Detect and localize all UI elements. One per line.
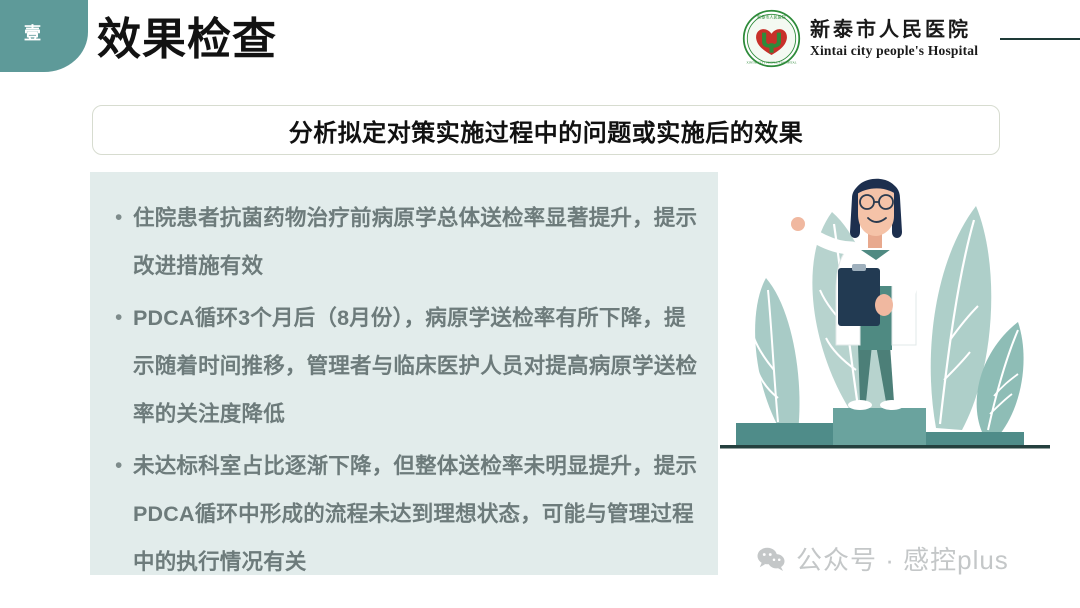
page-title: 效果检查 [97,12,277,67]
bullet-marker-icon: • [115,194,133,242]
list-item-text: 住院患者抗菌药物治疗前病原学总体送检率显著提升，提示改进措施有效 [133,194,702,290]
watermark: 公众号 · 感控plus [756,540,1009,577]
list-item: • 未达标科室占比逐渐下降，但整体送检率未明显提升，提示PDCA循环中形成的流程… [115,442,702,586]
slide-root: 壹 效果检查 新泰市人民医院 XINTAI CITY PEOPLE'S HOSP… [0,0,1080,608]
section-number-badge: 壹 [0,0,66,62]
bullet-marker-icon: • [115,442,133,490]
wechat-icon [756,546,786,572]
header-divider-rule [1000,38,1080,40]
hospital-logo-block: 新泰市人民医院 XINTAI CITY PEOPLE'S HOSPITAL 新泰… [742,9,978,68]
hospital-name-en: Xintai city people's Hospital [810,44,978,59]
svg-text:XINTAI CITY PEOPLE'S HOSPITAL: XINTAI CITY PEOPLE'S HOSPITAL [746,60,796,64]
doctor-illustration [700,140,1080,470]
hospital-emblem-icon: 新泰市人民医院 XINTAI CITY PEOPLE'S HOSPITAL [742,9,801,68]
hospital-name-block: 新泰市人民医院 Xintai city people's Hospital [810,19,978,59]
list-item: • PDCA循环3个月后（8月份），病原学送检率有所下降，提示随着时间推移，管理… [115,294,702,438]
watermark-text: 公众号 · 感控plus [796,540,1009,577]
content-panel: • 住院患者抗菌药物治疗前病原学总体送检率显著提升，提示改进措施有效 • PDC… [90,172,718,575]
bullet-marker-icon: • [115,294,133,342]
hospital-name-cn: 新泰市人民医院 [810,19,978,41]
list-item-text: 未达标科室占比逐渐下降，但整体送检率未明显提升，提示PDCA循环中形成的流程未达… [133,442,702,586]
svg-text:新泰市人民医院: 新泰市人民医院 [757,13,786,19]
list-item-text: PDCA循环3个月后（8月份），病原学送检率有所下降，提示随着时间推移，管理者与… [133,294,702,438]
list-item: • 住院患者抗菌药物治疗前病原学总体送检率显著提升，提示改进措施有效 [115,194,702,290]
bullet-list: • 住院患者抗菌药物治疗前病原学总体送检率显著提升，提示改进措施有效 • PDC… [115,194,702,590]
